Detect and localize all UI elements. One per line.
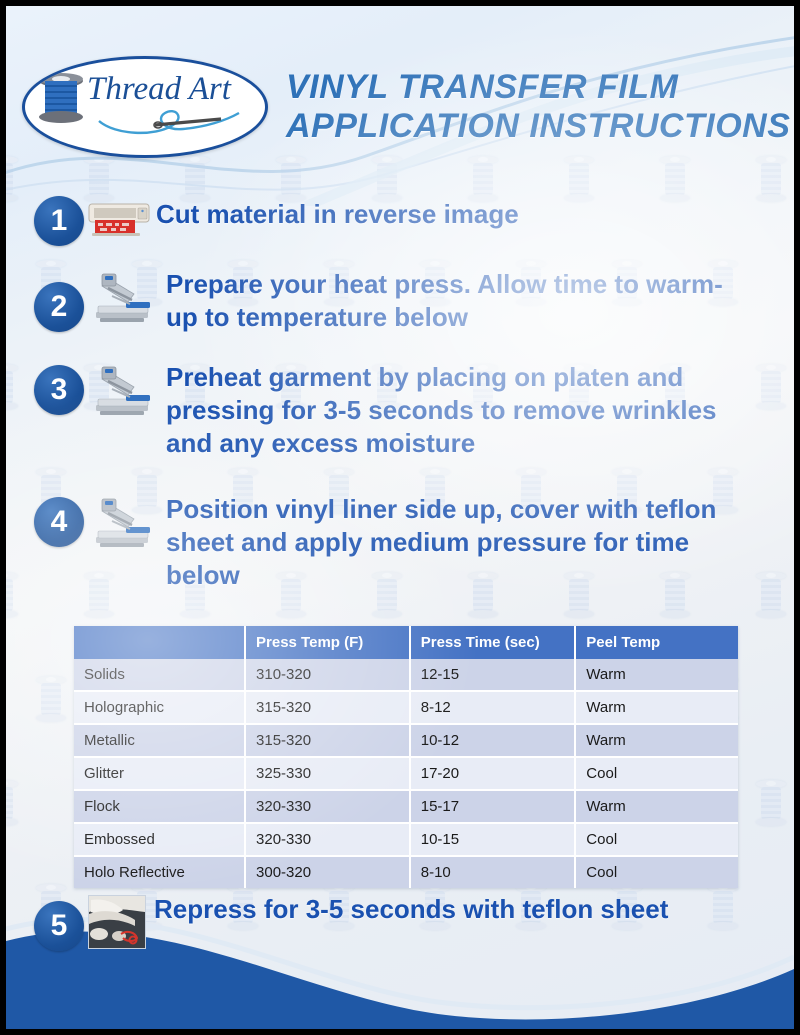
cell-material: Holographic — [74, 691, 245, 724]
sheet-background: Thread Art VINYL TRANSFER FILM APPLICATI… — [6, 6, 794, 1029]
cell-material: Solids — [74, 659, 245, 691]
cell-press-temp: 320-330 — [245, 823, 410, 856]
heat-press-icon — [88, 361, 160, 422]
step-5-number: 5 — [34, 901, 84, 951]
cell-peel-temp: Warm — [575, 659, 738, 691]
page-title: VINYL TRANSFER FILM APPLICATION INSTRUCT… — [286, 68, 790, 147]
settings-table-wrapper: Press Temp (F) Press Time (sec) Peel Tem… — [74, 626, 738, 888]
spool-watermark — [34, 676, 68, 722]
column-header-material — [74, 626, 245, 659]
step-2: 2 Prepare your heat press. Allow time to… — [34, 268, 734, 334]
table-header-row: Press Temp (F) Press Time (sec) Peel Tem… — [74, 626, 738, 659]
cell-press-time: 10-15 — [410, 823, 576, 856]
thread-art-logo: Thread Art — [22, 56, 268, 158]
cell-press-temp: 320-330 — [245, 790, 410, 823]
page-header: Thread Art VINYL TRANSFER FILM APPLICATI… — [6, 52, 794, 162]
instruction-sheet-page: Thread Art VINYL TRANSFER FILM APPLICATI… — [0, 0, 800, 1035]
cell-peel-temp: Cool — [575, 823, 738, 856]
spool-watermark — [6, 572, 20, 618]
cell-press-temp: 315-320 — [245, 691, 410, 724]
cell-material: Embossed — [74, 823, 245, 856]
cell-press-time: 8-10 — [410, 856, 576, 888]
column-header-press-temp: Press Temp (F) — [245, 626, 410, 659]
cell-press-time: 15-17 — [410, 790, 576, 823]
title-line-2: APPLICATION INSTRUCTIONS — [286, 107, 790, 146]
cell-press-time: 10-12 — [410, 724, 576, 757]
column-header-peel-temp: Peel Temp — [575, 626, 738, 659]
cell-material: Flock — [74, 790, 245, 823]
step-1: 1 Cut material in reve — [34, 196, 734, 246]
logo-graphic: Thread Art — [25, 59, 259, 149]
settings-table: Press Temp (F) Press Time (sec) Peel Tem… — [74, 626, 738, 888]
cell-peel-temp: Cool — [575, 757, 738, 790]
column-header-press-time: Press Time (sec) — [410, 626, 576, 659]
svg-text:Thread Art: Thread Art — [87, 71, 232, 107]
spool-watermark — [754, 364, 788, 410]
step-3: 3 Preheat garment by placing on platen a… — [34, 361, 754, 459]
cell-press-time: 8-12 — [410, 691, 576, 724]
spool-watermark — [6, 364, 20, 410]
spool-watermark — [754, 572, 788, 618]
cell-peel-temp: Cool — [575, 856, 738, 888]
table-row: Metallic 315-320 10-12 Warm — [74, 724, 738, 757]
vinyl-cutter-icon — [88, 202, 150, 243]
table-row: Holographic 315-320 8-12 Warm — [74, 691, 738, 724]
step-3-text: Preheat garment by placing on platen and… — [166, 361, 754, 459]
table-row: Solids 310-320 12-15 Warm — [74, 659, 738, 691]
step-5-text: Repress for 3-5 seconds with teflon shee… — [154, 893, 668, 926]
cell-peel-temp: Warm — [575, 724, 738, 757]
table-row: Embossed 320-330 10-15 Cool — [74, 823, 738, 856]
step-1-text: Cut material in reverse image — [156, 198, 519, 231]
cell-material: Holo Reflective — [74, 856, 245, 888]
cell-press-temp: 310-320 — [245, 659, 410, 691]
spool-watermark — [6, 780, 20, 826]
spool-watermark — [754, 156, 788, 202]
cell-press-time: 17-20 — [410, 757, 576, 790]
cell-peel-temp: Warm — [575, 790, 738, 823]
table-row: Flock 320-330 15-17 Warm — [74, 790, 738, 823]
heat-press-icon — [88, 493, 160, 554]
heat-press-icon — [88, 268, 160, 329]
table-row: Glitter 325-330 17-20 Cool — [74, 757, 738, 790]
spool-watermark — [754, 780, 788, 826]
cell-material: Metallic — [74, 724, 245, 757]
step-4-text: Position vinyl liner side up, cover with… — [166, 493, 734, 591]
title-line-1: VINYL TRANSFER FILM — [286, 68, 790, 107]
cell-press-temp: 325-330 — [245, 757, 410, 790]
step-5: 5 Repress for 3-5 seconds with teflon sh… — [34, 891, 734, 954]
step-4-number: 4 — [34, 497, 84, 547]
cell-press-time: 12-15 — [410, 659, 576, 691]
cell-material: Glitter — [74, 757, 245, 790]
cell-press-temp: 300-320 — [245, 856, 410, 888]
step-2-text: Prepare your heat press. Allow time to w… — [166, 268, 734, 334]
spool-watermark — [6, 156, 20, 202]
cell-press-temp: 315-320 — [245, 724, 410, 757]
peel-teflon-photo-icon — [88, 895, 146, 954]
step-3-number: 3 — [34, 365, 84, 415]
cell-peel-temp: Warm — [575, 691, 738, 724]
step-4: 4 Position vinyl liner side up, cover wi… — [34, 493, 734, 591]
table-row: Holo Reflective 300-320 8-10 Cool — [74, 856, 738, 888]
step-1-number: 1 — [34, 196, 84, 246]
step-2-number: 2 — [34, 282, 84, 332]
